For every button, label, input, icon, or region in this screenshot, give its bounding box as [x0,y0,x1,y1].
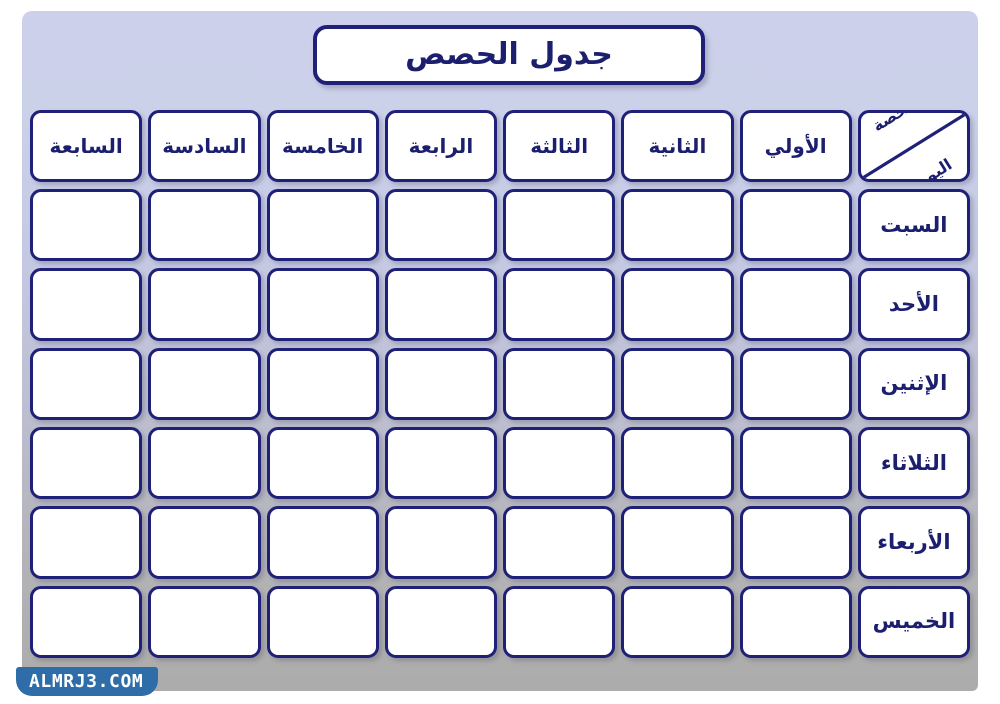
schedule-cell[interactable] [267,268,379,340]
schedule-cell[interactable] [385,427,497,499]
schedule-cell[interactable] [385,189,497,261]
schedule-cell[interactable] [503,586,615,658]
schedule-cell[interactable] [267,586,379,658]
schedule-cell[interactable] [503,348,615,420]
schedule-cell[interactable] [148,506,260,578]
schedule-cell[interactable] [503,506,615,578]
schedule-cell[interactable] [740,506,852,578]
period-header-3: الثالثة [503,110,615,182]
schedule-cell[interactable] [148,348,260,420]
schedule-cell[interactable] [267,506,379,578]
schedule-cell[interactable] [621,268,733,340]
day-label-5: الأربعاء [858,506,970,578]
schedule-cell[interactable] [30,268,142,340]
schedule-cell[interactable] [148,427,260,499]
schedule-cell[interactable] [385,268,497,340]
schedule-cell[interactable] [30,506,142,578]
day-label-3: الإثنين [858,348,970,420]
period-header-1: الأولي [740,110,852,182]
period-header-2: الثانية [621,110,733,182]
schedule-cell[interactable] [30,586,142,658]
schedule-page: جدول الحصص الحصةاليومالأوليالثانيةالثالث… [0,0,1000,704]
schedule-cell[interactable] [267,348,379,420]
day-label-1: السبت [858,189,970,261]
schedule-cell[interactable] [740,586,852,658]
period-header-4: الرابعة [385,110,497,182]
schedule-cell[interactable] [30,348,142,420]
day-label-2: الأحد [858,268,970,340]
schedule-cell[interactable] [148,268,260,340]
schedule-cell[interactable] [621,348,733,420]
schedule-cell[interactable] [503,189,615,261]
schedule-cell[interactable] [385,348,497,420]
schedule-cell[interactable] [148,586,260,658]
schedule-cell[interactable] [621,427,733,499]
schedule-cell[interactable] [267,189,379,261]
schedule-cell[interactable] [621,586,733,658]
schedule-cell[interactable] [267,427,379,499]
schedule-cell[interactable] [385,586,497,658]
corner-header-cell: الحصةاليوم [858,110,970,182]
period-header-7: السابعة [30,110,142,182]
day-label-4: الثلاثاء [858,427,970,499]
schedule-cell[interactable] [740,427,852,499]
schedule-cell[interactable] [740,189,852,261]
watermark-text: ALMRJ3.COM [29,673,143,691]
page-title: جدول الحصص [405,40,613,70]
schedule-cell[interactable] [148,189,260,261]
period-header-5: الخامسة [267,110,379,182]
schedule-cell[interactable] [385,506,497,578]
schedule-cell[interactable] [503,427,615,499]
schedule-cell[interactable] [621,506,733,578]
schedule-cell[interactable] [621,189,733,261]
day-label-6: الخميس [858,586,970,658]
schedule-cell[interactable] [740,348,852,420]
schedule-grid: الحصةاليومالأوليالثانيةالثالثةالرابعةالخ… [30,110,970,658]
schedule-cell[interactable] [503,268,615,340]
schedule-cell[interactable] [740,268,852,340]
schedule-cell[interactable] [30,189,142,261]
watermark-banner: ALMRJ3.COM [16,667,158,696]
period-header-6: السادسة [148,110,260,182]
schedule-cell[interactable] [30,427,142,499]
page-title-box: جدول الحصص [313,25,705,85]
